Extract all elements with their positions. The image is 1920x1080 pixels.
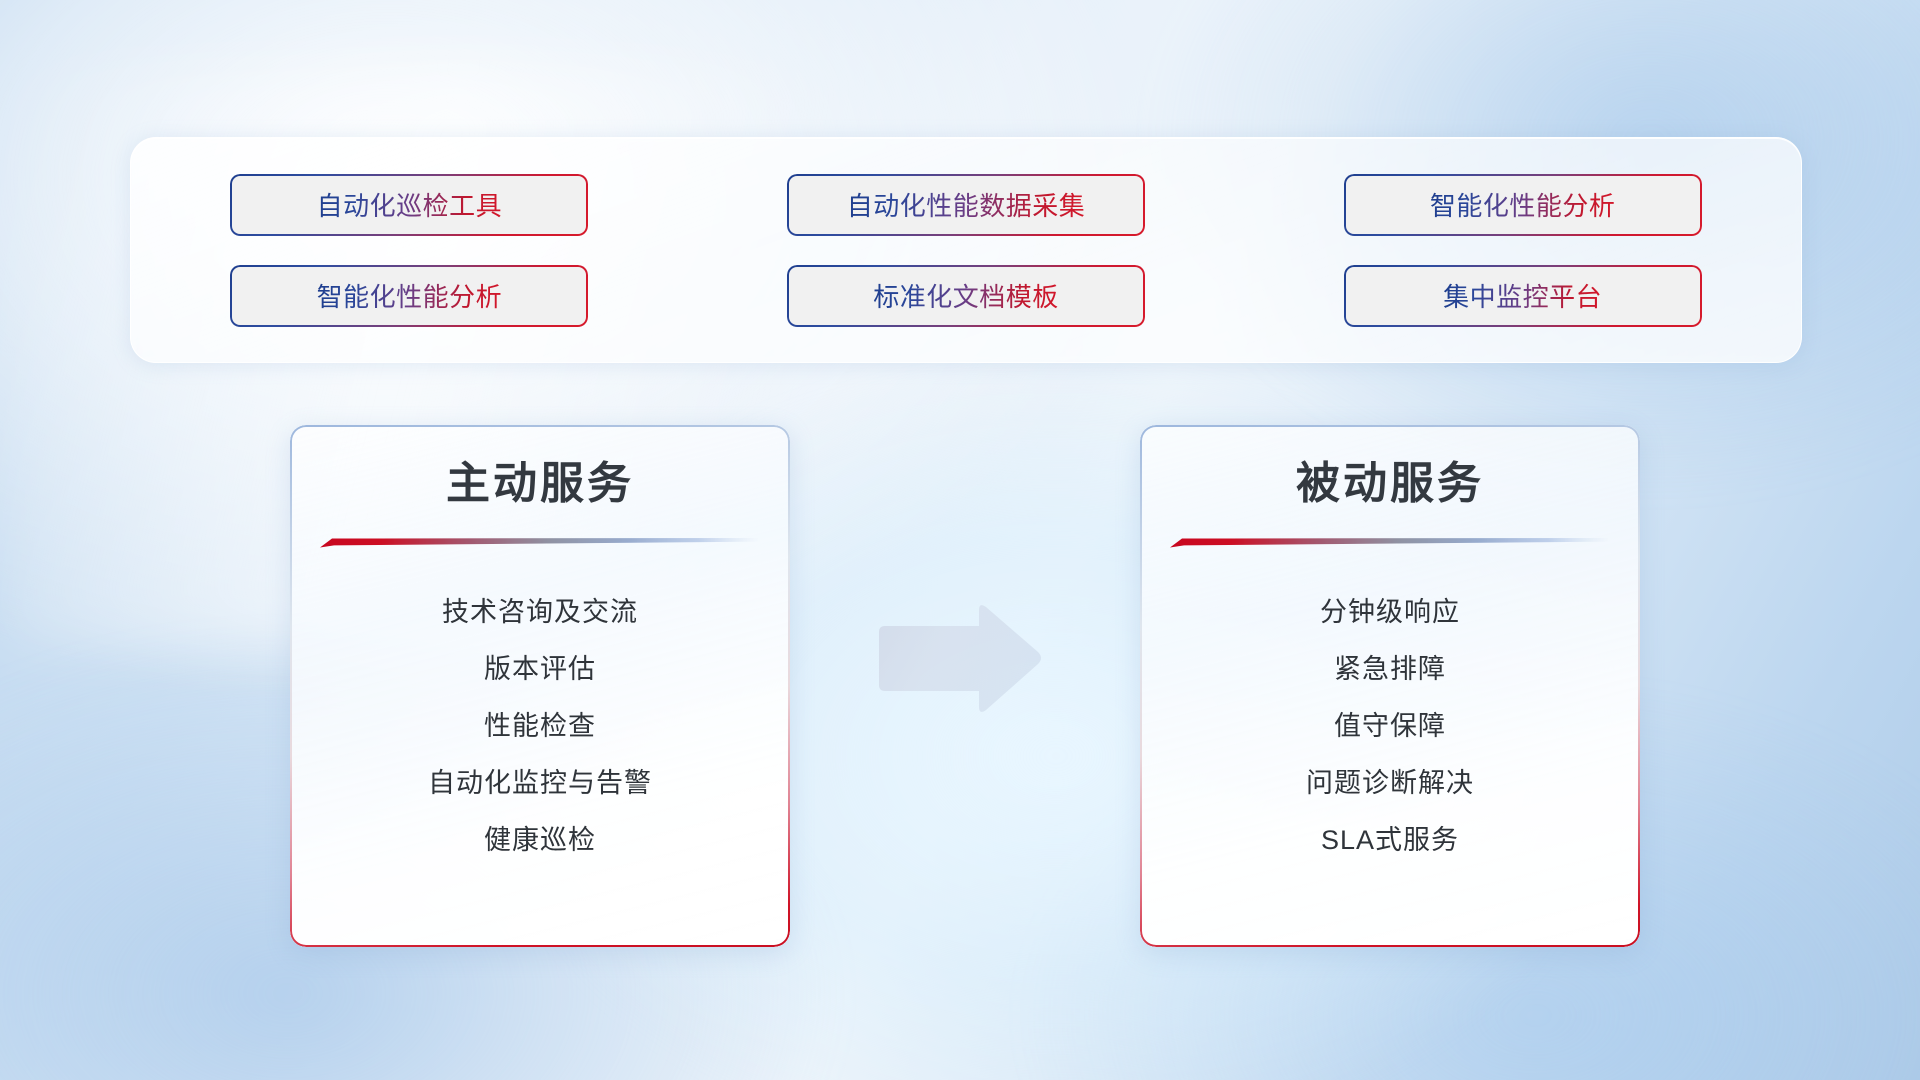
capability-pill-1[interactable]: 自动化巡检工具 xyxy=(230,174,588,236)
capability-pill-label: 自动化性能数据采集 xyxy=(847,186,1086,223)
capability-pill-grid: 自动化巡检工具 自动化性能数据采集 智能化性能分析 智能化性能分析 标准化文档模… xyxy=(131,138,1801,362)
capability-pill-label: 自动化巡检工具 xyxy=(317,186,503,223)
card-content: 被动服务 xyxy=(1140,425,1640,947)
capability-pill-4[interactable]: 智能化性能分析 xyxy=(230,265,588,327)
list-item: 性能检查 xyxy=(320,698,760,755)
card-title: 被动服务 xyxy=(1170,459,1610,510)
card-item-list: 技术咨询及交流 版本评估 性能检查 自动化监控与告警 健康巡检 xyxy=(320,584,760,869)
capability-pill-label: 智能化性能分析 xyxy=(1430,186,1616,223)
list-item: SLA式服务 xyxy=(1170,812,1610,869)
list-item: 自动化监控与告警 xyxy=(320,755,760,812)
card-title-divider xyxy=(1170,536,1610,550)
card-item-list: 分钟级响应 紧急排障 值守保障 问题诊断解决 SLA式服务 xyxy=(1170,584,1610,869)
capability-pill-5[interactable]: 标准化文档模板 xyxy=(787,265,1145,327)
capability-pill-label: 标准化文档模板 xyxy=(873,277,1059,314)
list-item: 技术咨询及交流 xyxy=(320,584,760,641)
list-item: 问题诊断解决 xyxy=(1170,755,1610,812)
capability-panel: 自动化巡检工具 自动化性能数据采集 智能化性能分析 智能化性能分析 标准化文档模… xyxy=(130,137,1802,363)
list-item: 紧急排障 xyxy=(1170,641,1610,698)
list-item: 健康巡检 xyxy=(320,812,760,869)
card-title: 主动服务 xyxy=(320,459,760,510)
slide-stage: 自动化巡检工具 自动化性能数据采集 智能化性能分析 智能化性能分析 标准化文档模… xyxy=(0,0,1920,1080)
capability-pill-2[interactable]: 自动化性能数据采集 xyxy=(787,174,1145,236)
capability-pill-label: 智能化性能分析 xyxy=(317,277,503,314)
card-title-divider xyxy=(320,536,760,550)
capability-pill-3[interactable]: 智能化性能分析 xyxy=(1344,174,1702,236)
arrow-right-icon xyxy=(875,600,1045,720)
list-item: 分钟级响应 xyxy=(1170,584,1610,641)
list-item: 版本评估 xyxy=(320,641,760,698)
service-card-reactive: 被动服务 xyxy=(1140,425,1640,947)
list-item: 值守保障 xyxy=(1170,698,1610,755)
capability-pill-label: 集中监控平台 xyxy=(1443,277,1602,314)
service-card-proactive: 主动服务 xyxy=(290,425,790,947)
card-content: 主动服务 xyxy=(290,425,790,947)
capability-pill-6[interactable]: 集中监控平台 xyxy=(1344,265,1702,327)
